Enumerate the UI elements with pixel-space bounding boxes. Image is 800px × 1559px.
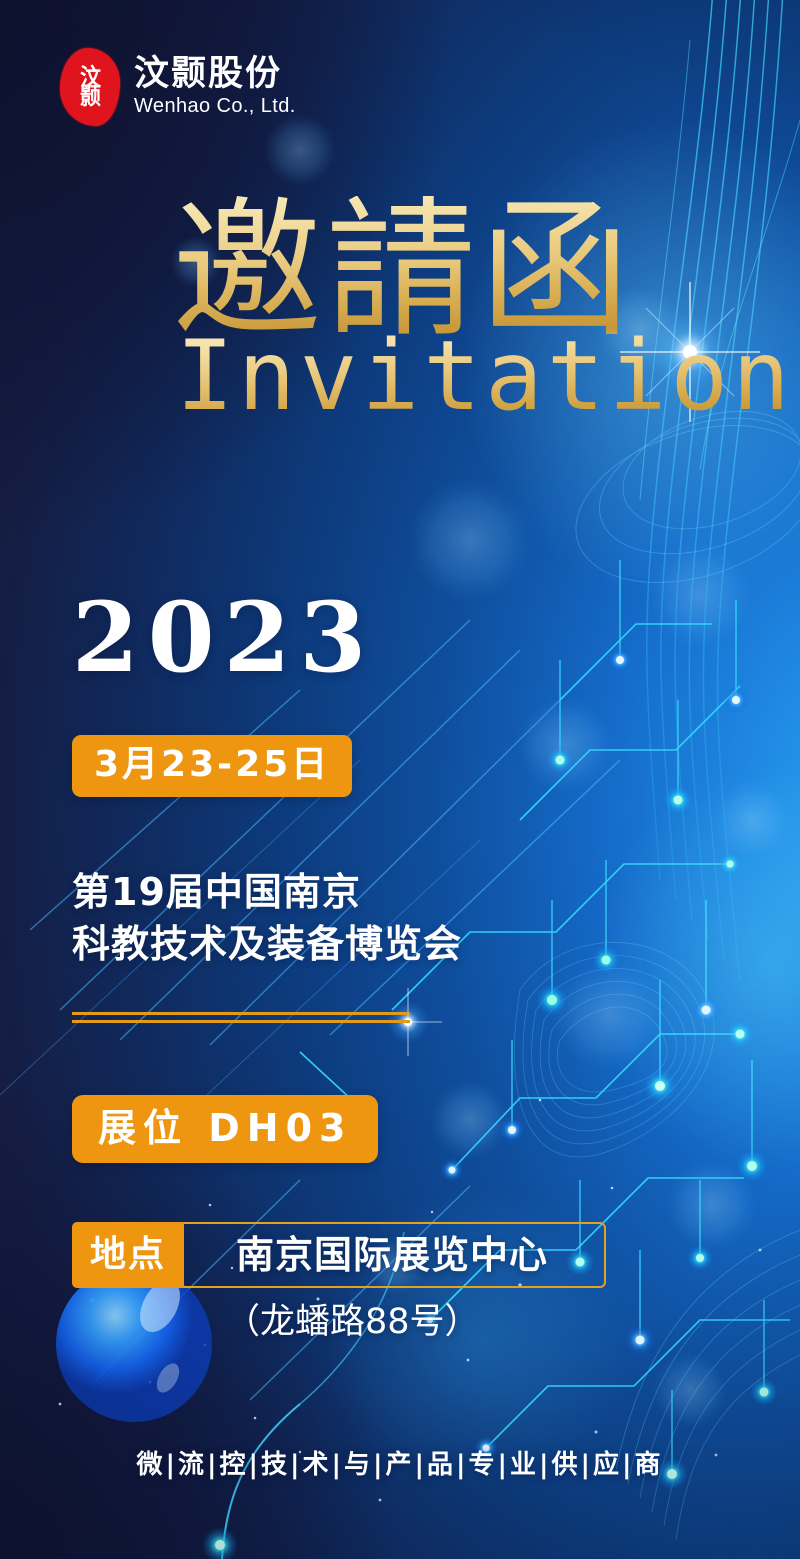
divider-line-top: [72, 1012, 410, 1015]
event-name-line-1: 第19届中国南京: [72, 866, 462, 918]
gold-divider: [72, 1012, 410, 1023]
company-name-en: Wenhao Co., Ltd.: [134, 95, 296, 118]
footer-tagline: 微|流|控|技|术|与|产|品|专|业|供|应|商: [0, 1452, 800, 1478]
seal-glyph-bottom: 颢: [80, 86, 100, 108]
divider-line-bottom: [72, 1020, 410, 1023]
seal-glyph-group: 汶 颢: [60, 48, 120, 126]
event-name: 第19届中国南京 科教技术及装备博览会: [72, 866, 462, 971]
venue-name: 南京国际展览中心: [184, 1224, 604, 1286]
venue-label-chip: 地点: [72, 1222, 184, 1288]
company-logo: 汶 颢 汶颢股份 Wenhao Co., Ltd.: [60, 48, 296, 126]
venue-address: （龙蟠路88号）: [225, 1305, 480, 1340]
booth-number-badge: 展位 DH03: [72, 1095, 378, 1163]
venue-row: 地点 南京国际展览中心: [72, 1222, 606, 1288]
event-year: 2023: [72, 590, 375, 686]
company-name-cn: 汶颢股份: [134, 56, 296, 94]
logo-text-block: 汶颢股份 Wenhao Co., Ltd.: [134, 56, 296, 119]
invitation-title-en: Invitation: [0, 328, 800, 424]
invitation-poster: 汶 颢 汶颢股份 Wenhao Co., Ltd. 邀請函 Invitation…: [0, 0, 800, 1559]
event-name-line-2: 科教技术及装备博览会: [72, 918, 462, 970]
invitation-title-block: 邀請函 Invitation: [0, 196, 800, 424]
event-date-badge: 3月23-25日: [72, 735, 352, 797]
seal-stamp-icon: 汶 颢: [60, 48, 120, 126]
